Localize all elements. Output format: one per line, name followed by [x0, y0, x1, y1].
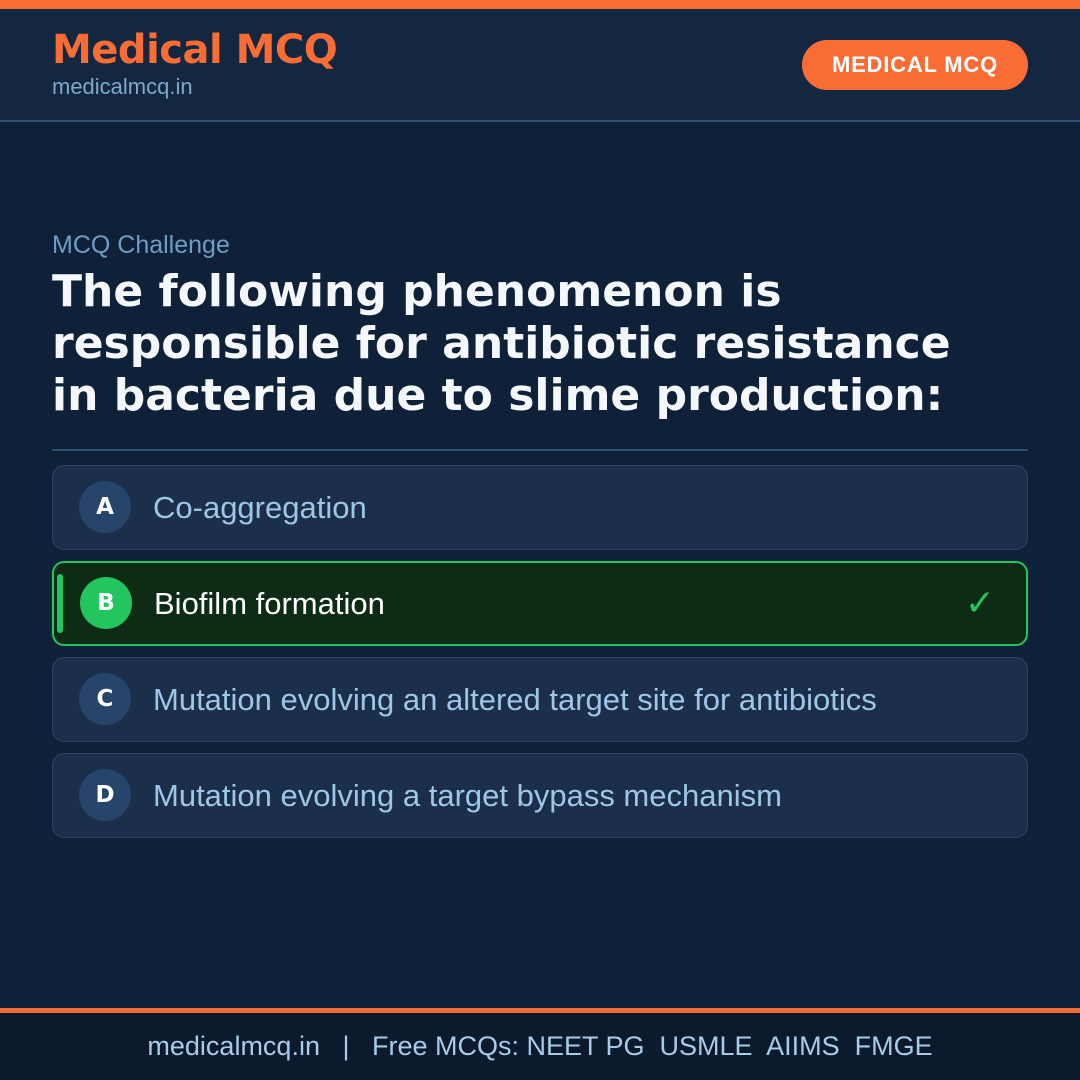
option-label: Biofilm formation	[154, 587, 938, 620]
option-label: Mutation evolving a target bypass mechan…	[153, 779, 939, 812]
option-letter-badge: B	[80, 577, 132, 629]
option-row-a[interactable]: A Co-aggregation ✓	[52, 465, 1028, 550]
option-row-c[interactable]: C Mutation evolving an altered target si…	[52, 657, 1028, 742]
brand-url: medicalmcq.in	[52, 74, 337, 100]
top-accent-bar	[0, 0, 1080, 9]
option-label: Co-aggregation	[153, 491, 939, 524]
options-list: A Co-aggregation ✓ B Biofilm formation ✓…	[52, 465, 1028, 838]
option-letter-badge: C	[79, 673, 131, 725]
section-divider	[52, 449, 1028, 451]
brand-title: Medical MCQ	[52, 28, 337, 72]
option-label: Mutation evolving an altered target site…	[153, 683, 939, 716]
mcq-card: Medical MCQ medicalmcq.in MEDICAL MCQ MC…	[0, 0, 1080, 1080]
main-content: MCQ Challenge The following phenomenon i…	[0, 122, 1080, 1008]
footer-text: medicalmcq.in | Free MCQs: NEET PG USMLE…	[147, 1031, 932, 1062]
correct-accent-bar	[57, 574, 63, 633]
option-row-b[interactable]: B Biofilm formation ✓	[52, 561, 1028, 646]
option-row-d[interactable]: D Mutation evolving a target bypass mech…	[52, 753, 1028, 838]
option-letter-badge: A	[79, 481, 131, 533]
header-badge[interactable]: MEDICAL MCQ	[802, 40, 1028, 90]
option-letter-badge: D	[79, 769, 131, 821]
check-icon: ✓	[960, 583, 1000, 624]
question-text: The following phenomenon is responsible …	[52, 266, 952, 422]
header-bar: Medical MCQ medicalmcq.in MEDICAL MCQ	[0, 9, 1080, 122]
eyebrow-label: MCQ Challenge	[52, 230, 1028, 260]
footer-bar: medicalmcq.in | Free MCQs: NEET PG USMLE…	[0, 1008, 1080, 1080]
brand-block: Medical MCQ medicalmcq.in	[52, 28, 337, 100]
